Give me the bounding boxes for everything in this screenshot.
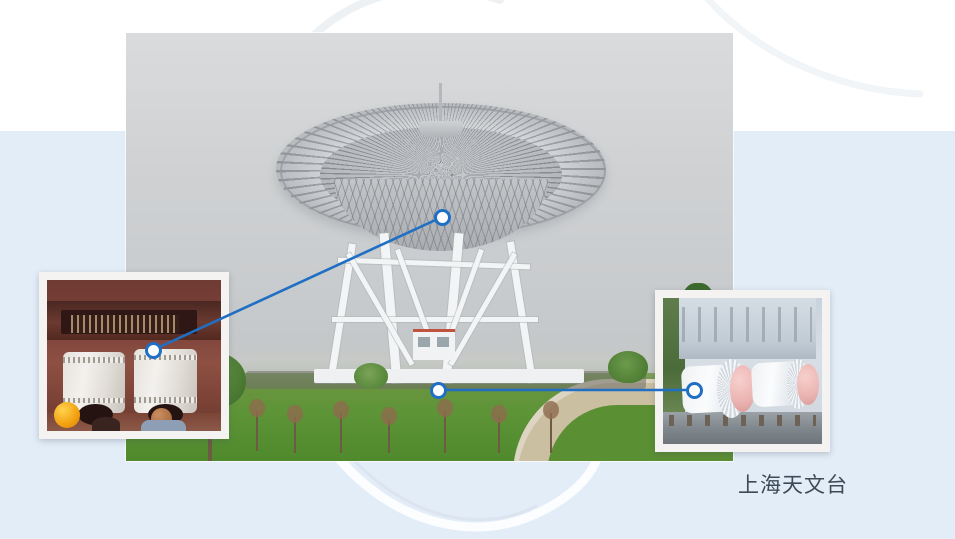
marker-left-inset[interactable] [145,342,162,359]
callout-line-upper [153,217,442,350]
page-title: 上海天文台 [738,469,848,499]
slide-canvas: 上海天文台 [0,0,955,539]
marker-right-inset[interactable] [686,382,703,399]
callout-lines [0,0,955,539]
marker-dish-mount[interactable] [434,209,451,226]
marker-base-ring[interactable] [430,382,447,399]
